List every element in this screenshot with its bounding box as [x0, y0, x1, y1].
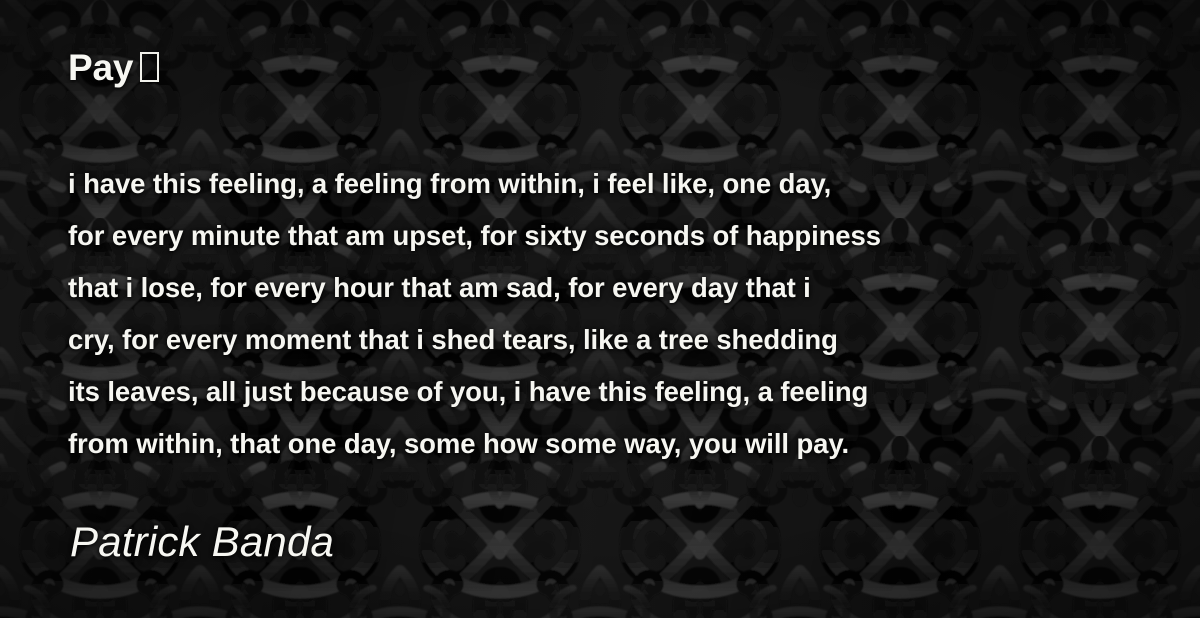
poem-body-text: i have this feeling, a feeling from with… — [68, 158, 1128, 470]
poem-content: Pay i have this feeling, a feeling from … — [0, 0, 1200, 618]
poem-title-text: Pay — [68, 47, 133, 89]
poem-image-card: Pay i have this feeling, a feeling from … — [0, 0, 1200, 618]
missing-glyph-box-icon — [140, 52, 159, 82]
poem-author-name: Patrick Banda — [70, 518, 334, 566]
page-title: Pay — [68, 47, 159, 89]
